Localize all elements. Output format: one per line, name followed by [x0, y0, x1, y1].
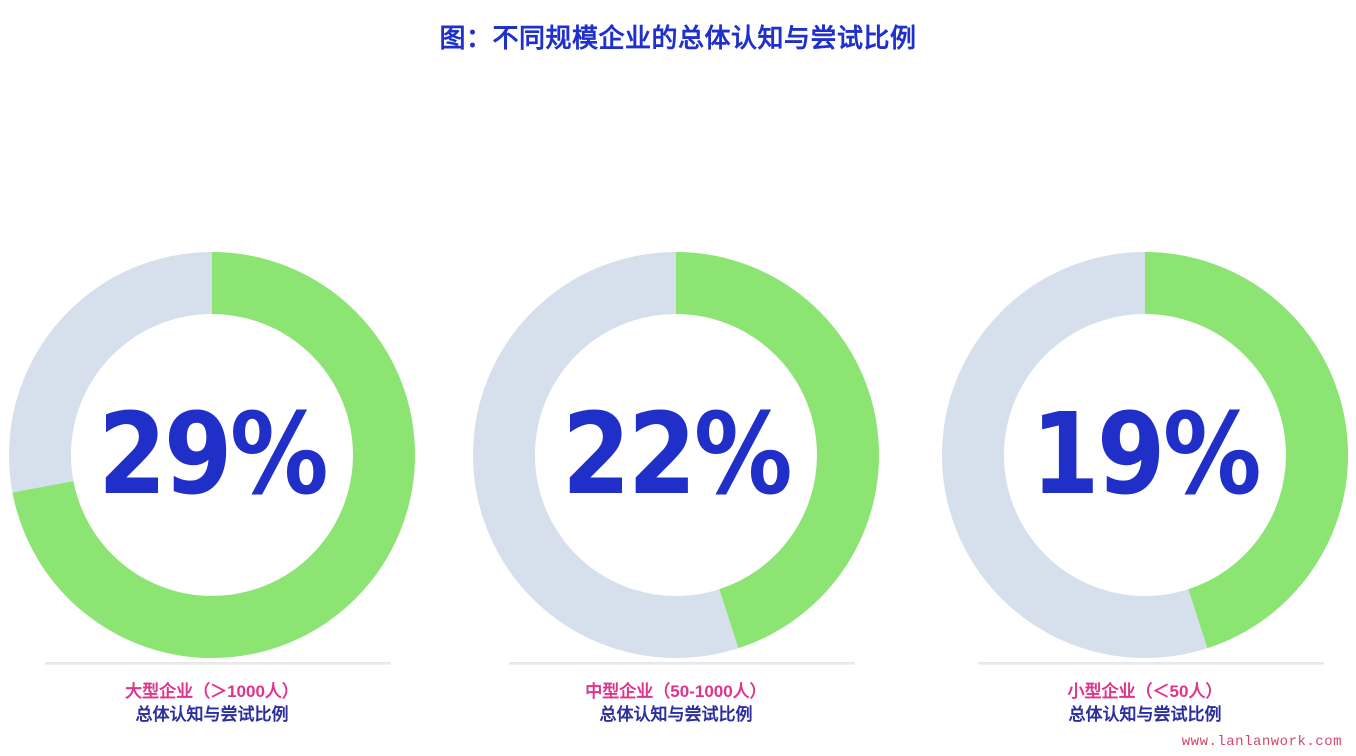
donut-panel-large-enterprise: 29% 大型企业（＞1000人） 总体认知与尝试比例: [0, 0, 438, 756]
donut-caption: 中型企业（50-1000人） 总体认知与尝试比例: [450, 681, 902, 727]
donut-panel-row: 29% 大型企业（＞1000人） 总体认知与尝试比例 22% 中型企业（50-1…: [0, 0, 1356, 756]
caption-measure-label: 总体认知与尝试比例: [919, 704, 1356, 727]
donut-chart-large-enterprise: 29%: [9, 252, 415, 658]
donut-value-label: 29%: [33, 252, 390, 658]
caption-divider: [978, 662, 1324, 665]
site-watermark: www.lanlanwork.com: [1182, 734, 1342, 750]
caption-divider: [509, 662, 855, 665]
donut-chart-small-enterprise: 19%: [942, 252, 1348, 658]
caption-measure-label: 总体认知与尝试比例: [450, 704, 902, 727]
donut-value-label: 22%: [497, 252, 854, 658]
caption-divider: [45, 662, 391, 665]
donut-caption: 小型企业（＜50人） 总体认知与尝试比例: [919, 681, 1356, 727]
donut-panel-small-enterprise: 19% 小型企业（＜50人） 总体认知与尝试比例: [919, 0, 1356, 756]
caption-measure-label: 总体认知与尝试比例: [0, 704, 438, 727]
donut-caption: 大型企业（＞1000人） 总体认知与尝试比例: [0, 681, 438, 727]
donut-panel-medium-enterprise: 22% 中型企业（50-1000人） 总体认知与尝试比例: [450, 0, 902, 756]
donut-chart-medium-enterprise: 22%: [473, 252, 879, 658]
caption-category-label: 大型企业（＞1000人）: [0, 681, 438, 704]
caption-category-label: 中型企业（50-1000人）: [450, 681, 902, 704]
caption-category-label: 小型企业（＜50人）: [919, 681, 1356, 704]
donut-value-label: 19%: [966, 252, 1323, 658]
